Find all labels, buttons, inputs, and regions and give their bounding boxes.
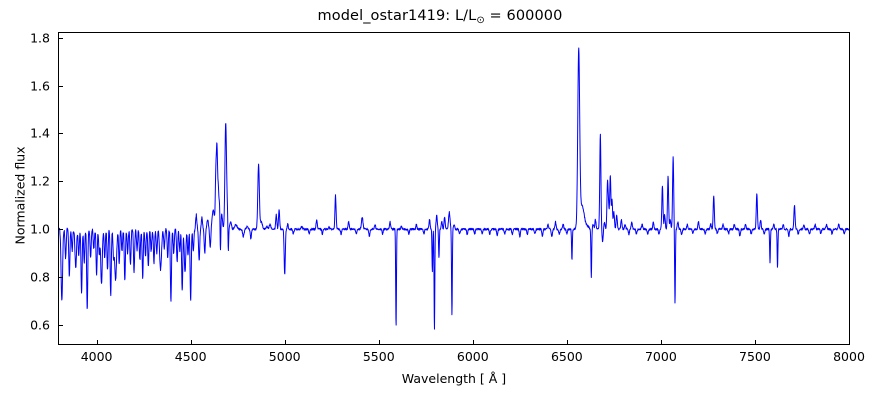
x-tick-mark [755, 340, 756, 344]
x-tick-mark [191, 340, 192, 344]
spectrum-line-plot [59, 33, 849, 344]
solar-symbol-subscript: ⊙ [476, 15, 484, 26]
y-tick-mark [59, 229, 63, 230]
chart-title-main: model_ostar1419: L/L [318, 8, 477, 24]
x-tick-label: 5500 [363, 349, 395, 364]
y-tick-label: 1.6 [0, 78, 50, 93]
x-tick-label: 6000 [457, 349, 489, 364]
x-tick-mark [473, 340, 474, 344]
spectrum-figure: model_ostar1419: L/L⊙ = 600000 400045005… [0, 0, 880, 400]
x-tick-label: 5000 [269, 349, 301, 364]
x-tick-label: 6500 [551, 349, 583, 364]
chart-title-tail: = 600000 [485, 8, 563, 24]
y-tick-mark [59, 181, 63, 182]
x-tick-label: 7500 [739, 349, 771, 364]
chart-title: model_ostar1419: L/L⊙ = 600000 [0, 8, 880, 26]
y-axis-label: Normalized flux [13, 96, 28, 296]
x-tick-label: 4500 [175, 349, 207, 364]
x-tick-mark [567, 340, 568, 344]
x-tick-label: 7000 [645, 349, 677, 364]
y-tick-label: 0.6 [0, 317, 50, 332]
x-tick-mark [97, 340, 98, 344]
x-tick-label: 8000 [833, 349, 865, 364]
y-tick-mark [59, 86, 63, 87]
spectrum-polyline [59, 48, 849, 329]
y-tick-mark [59, 38, 63, 39]
y-tick-mark [59, 277, 63, 278]
plot-area [58, 32, 850, 345]
y-tick-mark [59, 325, 63, 326]
y-tick-label: 1.8 [0, 30, 50, 45]
x-tick-mark [661, 340, 662, 344]
x-tick-mark [285, 340, 286, 344]
y-tick-mark [59, 133, 63, 134]
x-tick-label: 4000 [81, 349, 113, 364]
x-axis-label: Wavelength [ Å ] [58, 371, 850, 386]
x-tick-mark [849, 340, 850, 344]
x-tick-mark [379, 340, 380, 344]
